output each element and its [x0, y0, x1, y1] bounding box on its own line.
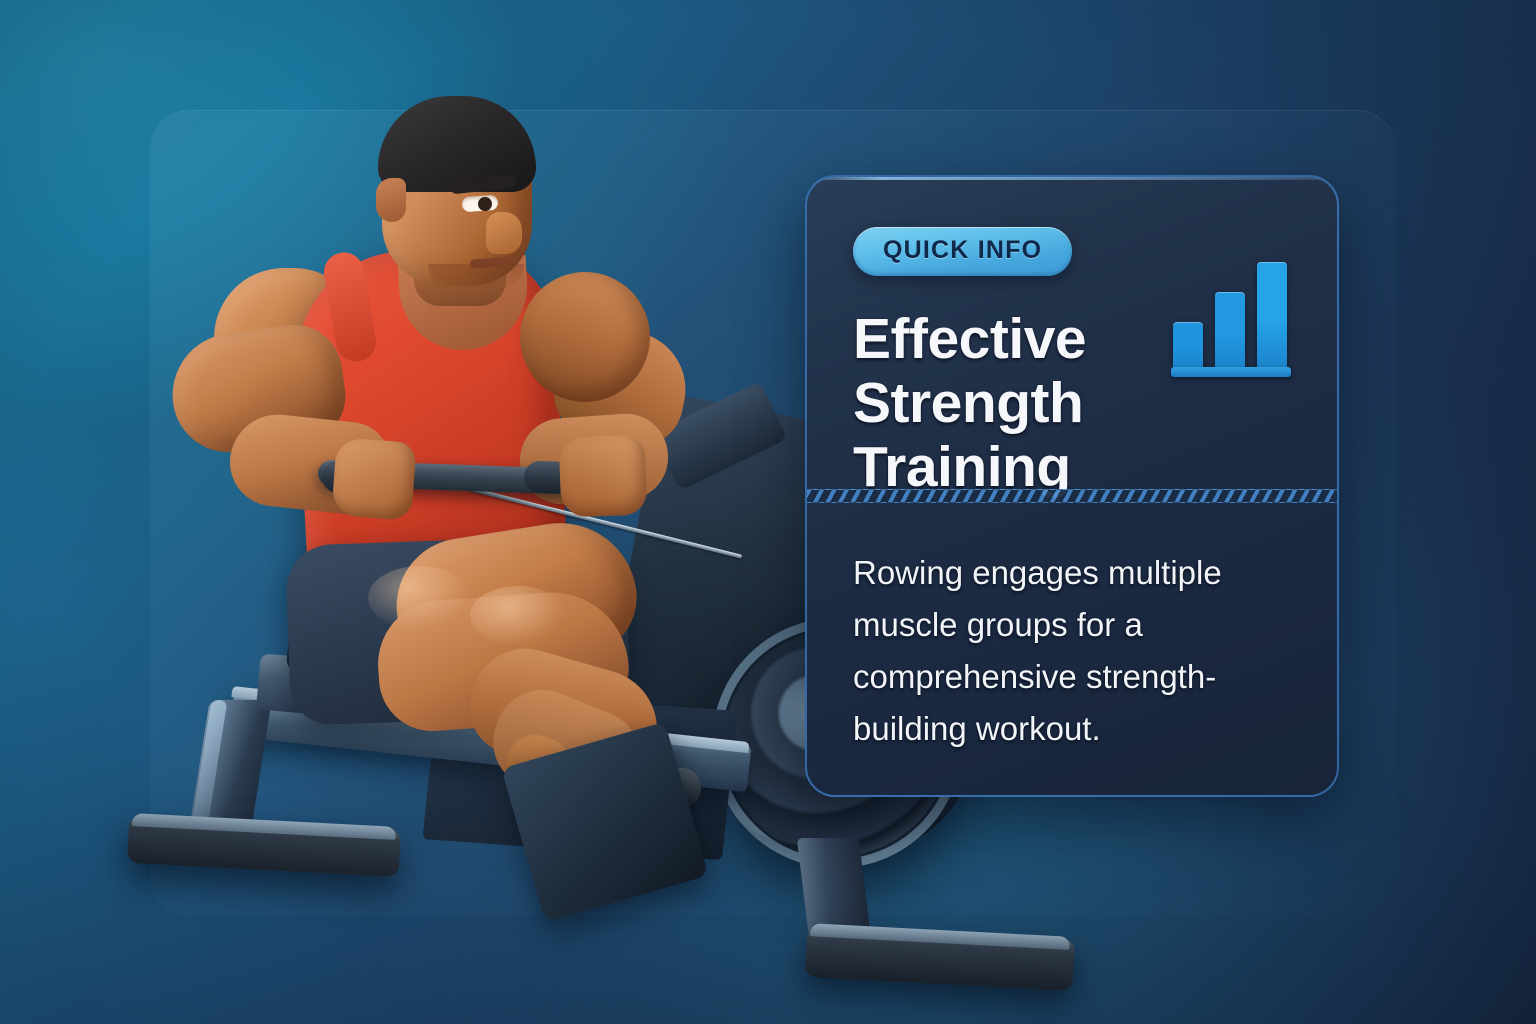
- bar-chart-bar-2: [1215, 292, 1245, 367]
- ear: [376, 178, 406, 222]
- scene-root: QUICK INFO Effective Strength Training R…: [0, 0, 1536, 1024]
- chin-shadow: [428, 264, 524, 292]
- quick-info-badge[interactable]: QUICK INFO: [853, 227, 1072, 276]
- right-hand: [559, 435, 648, 518]
- quick-info-card: QUICK INFO Effective Strength Training R…: [805, 175, 1339, 797]
- bar-chart-baseline: [1171, 367, 1291, 377]
- bar-chart-bar-3: [1257, 262, 1287, 367]
- nose: [486, 212, 522, 254]
- card-divider: [807, 489, 1337, 503]
- bar-chart-bar-1: [1173, 322, 1203, 367]
- card-body-text: Rowing engages multiple muscle groups fo…: [853, 547, 1273, 756]
- right-shoulder: [520, 272, 650, 402]
- knee-highlight-left: [368, 566, 472, 630]
- pupil: [478, 197, 492, 211]
- bar-chart-icon: [1171, 265, 1291, 385]
- knee-highlight-right: [470, 586, 566, 646]
- left-hand: [331, 437, 416, 520]
- card-title: Effective Strength Training: [853, 308, 1203, 499]
